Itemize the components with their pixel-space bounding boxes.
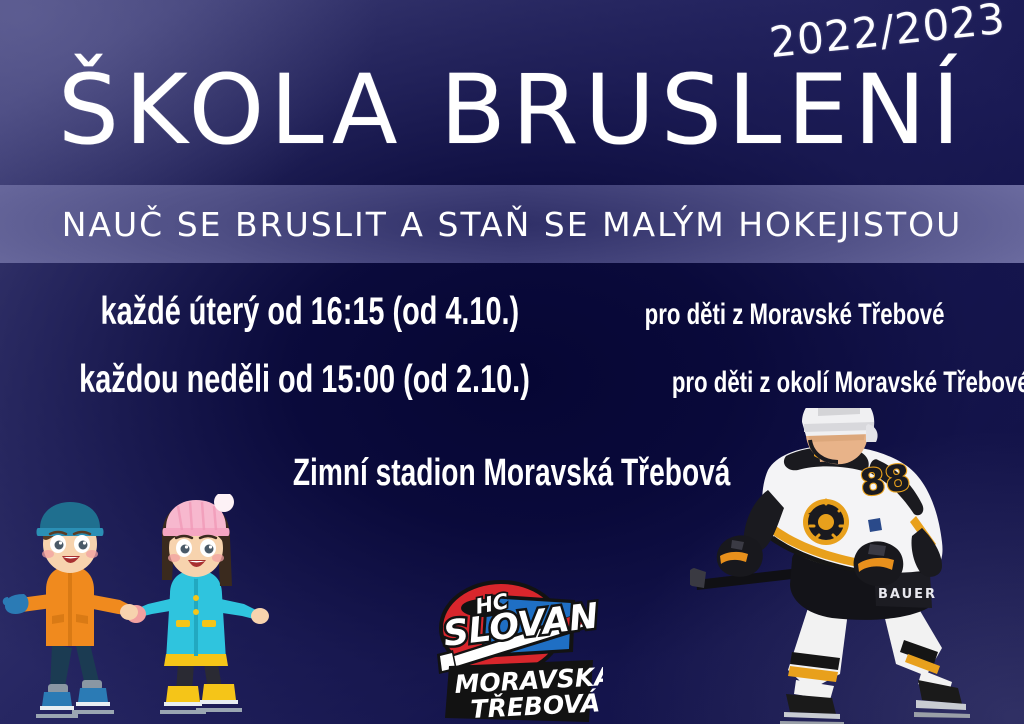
- boy-skater-icon: [3, 502, 136, 718]
- player-jersey-number: 88: [858, 457, 913, 505]
- skating-school-poster: 2022/2023 ŠKOLA BRUSLENÍ NAUČ SE BRUSLIT…: [0, 0, 1024, 724]
- schedule-line-1-main: každé úterý od 16:15 (od 4.10.): [100, 290, 519, 334]
- hc-slovan-logo-svg: HC SLOVAN MORAVSKÁ TŘEBOVÁ: [423, 566, 603, 724]
- schedule-line-2: každou neděli od 15:00 (od 2.10.) pro dě…: [0, 358, 1024, 402]
- venue-text: Zimní stadion Moravská Třebová: [293, 452, 731, 495]
- schedule-line-1-detail: pro děti z Moravské Třebové: [645, 298, 945, 332]
- player-left-glove-icon: [717, 535, 763, 576]
- hockey-player-illustration: BAUER 88: [690, 408, 1024, 724]
- player-brand-text: BAUER: [878, 587, 937, 602]
- girl-skater-icon: [120, 494, 269, 714]
- subtitle-text: NAUČ SE BRUSLIT A STAŇ SE MALÝM HOKEJIST…: [62, 205, 962, 244]
- schedule-line-2-main: každou neděli od 15:00 (od 2.10.): [79, 358, 530, 402]
- subtitle-band: NAUČ SE BRUSLIT A STAŇ SE MALÝM HOKEJIST…: [0, 185, 1024, 263]
- hc-slovan-logo: HC SLOVAN MORAVSKÁ TŘEBOVÁ: [423, 566, 603, 724]
- children-skating-svg: [2, 494, 274, 724]
- children-skating-illustration: [2, 494, 274, 724]
- schedule-line-2-detail: pro děti z okolí Moravské Třebové: [672, 366, 1024, 400]
- hockey-player-svg: BAUER 88: [690, 408, 1024, 724]
- schedule-line-1: každé úterý od 16:15 (od 4.10.) pro děti…: [0, 290, 1024, 334]
- page-title: ŠKOLA BRUSLENÍ: [0, 62, 1024, 158]
